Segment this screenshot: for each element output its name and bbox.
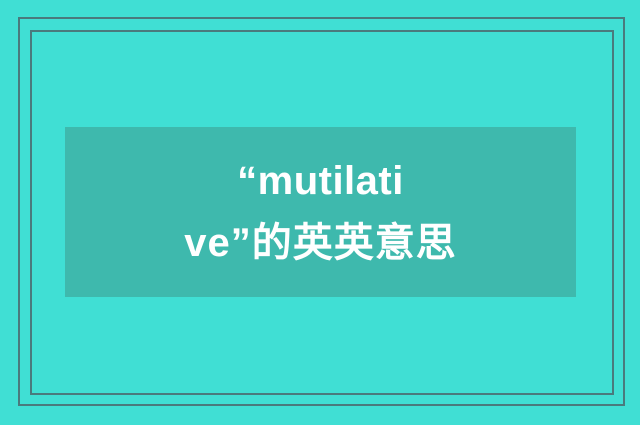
title-line-1: “mutilati [237,150,404,212]
title-card-canvas: “mutilati ve”的英英意思 [0,0,640,425]
title-panel: “mutilati ve”的英英意思 [65,127,576,297]
title-line-2: ve”的英英意思 [184,212,457,274]
